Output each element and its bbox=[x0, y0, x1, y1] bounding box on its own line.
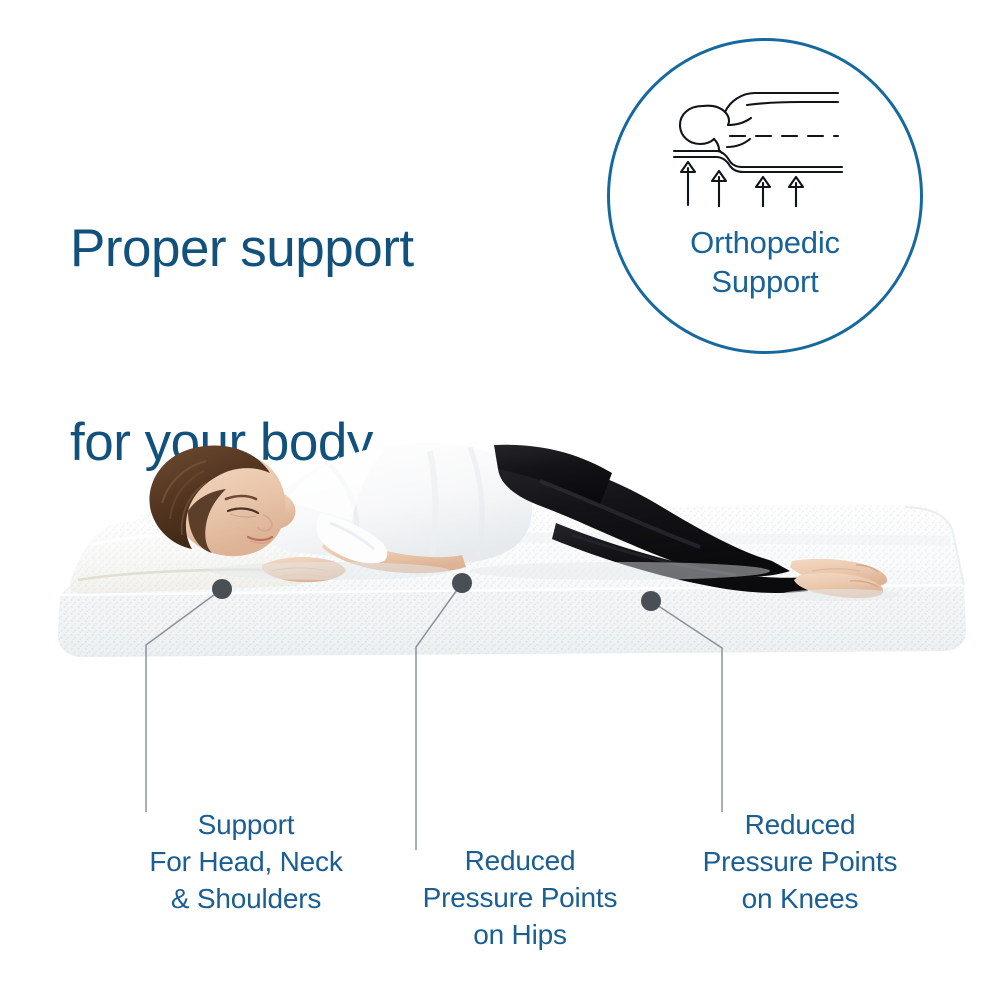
product-photo bbox=[0, 395, 1000, 695]
orthopedic-support-icon bbox=[672, 79, 858, 207]
caption-line-3: on Hips bbox=[310, 916, 730, 953]
headline-line-1: Proper support bbox=[70, 217, 414, 282]
marketing-image: Proper support for your body. bbox=[0, 0, 1000, 1000]
support-arrows bbox=[681, 162, 803, 207]
badge-label: Orthopedic Support bbox=[610, 223, 920, 302]
callout-caption-knees: Reduced Pressure Points on Knees bbox=[590, 806, 1000, 918]
badge-label-line-2: Support bbox=[610, 262, 920, 301]
badge-label-line-1: Orthopedic bbox=[610, 223, 920, 262]
caption-line-2: Pressure Points bbox=[590, 843, 1000, 880]
caption-line-1: Reduced bbox=[590, 806, 1000, 843]
orthopedic-support-badge: Orthopedic Support bbox=[607, 38, 923, 354]
caption-line-1: Support bbox=[36, 806, 456, 843]
caption-line-3: on Knees bbox=[590, 880, 1000, 917]
